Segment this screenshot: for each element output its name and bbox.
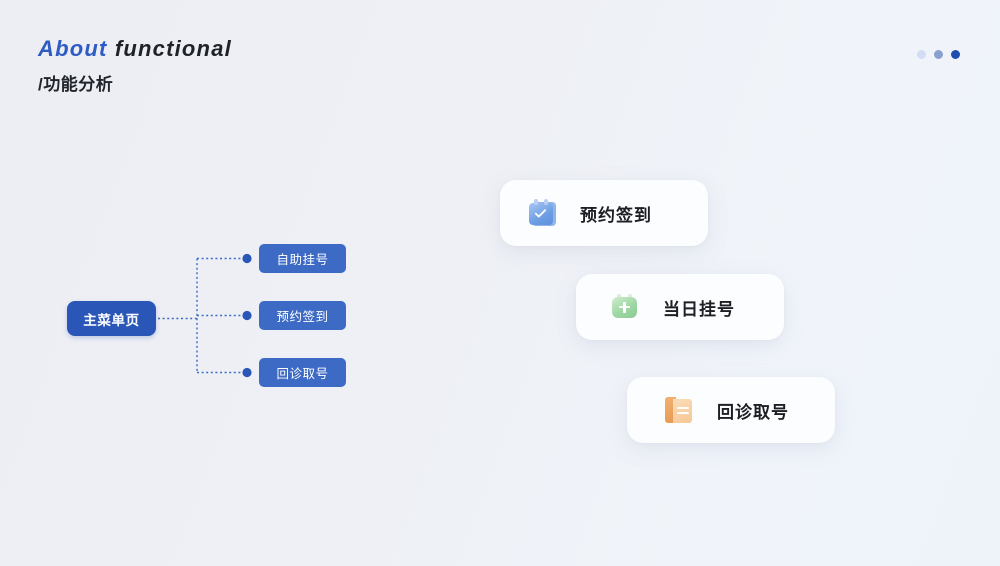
dot-light-icon bbox=[917, 50, 926, 59]
tree-node-child-3[interactable]: 回诊取号 bbox=[259, 358, 346, 387]
feature-card-label: 当日挂号 bbox=[663, 295, 735, 320]
calendar-check-icon bbox=[528, 199, 558, 228]
menu-tree-diagram: 主菜单页 自助挂号 预约签到 回诊取号 bbox=[0, 0, 400, 566]
book-record-icon bbox=[665, 396, 695, 425]
feature-card-appointment-checkin[interactable]: 预约签到 bbox=[500, 180, 708, 246]
tree-node-child-2[interactable]: 预约签到 bbox=[259, 301, 346, 330]
dot-medium-icon bbox=[934, 50, 943, 59]
decor-dots bbox=[917, 50, 960, 59]
feature-card-label: 预约签到 bbox=[580, 201, 652, 226]
tree-connectors bbox=[0, 0, 400, 566]
tree-node-child-1[interactable]: 自助挂号 bbox=[259, 244, 346, 273]
feature-card-revisit-ticket[interactable]: 回诊取号 bbox=[627, 377, 835, 443]
tree-node-root[interactable]: 主菜单页 bbox=[67, 301, 156, 336]
feature-card-label: 回诊取号 bbox=[717, 398, 789, 423]
feature-card-same-day-registration[interactable]: 当日挂号 bbox=[576, 274, 784, 340]
dot-dark-icon bbox=[951, 50, 960, 59]
plus-registration-icon bbox=[611, 293, 641, 322]
